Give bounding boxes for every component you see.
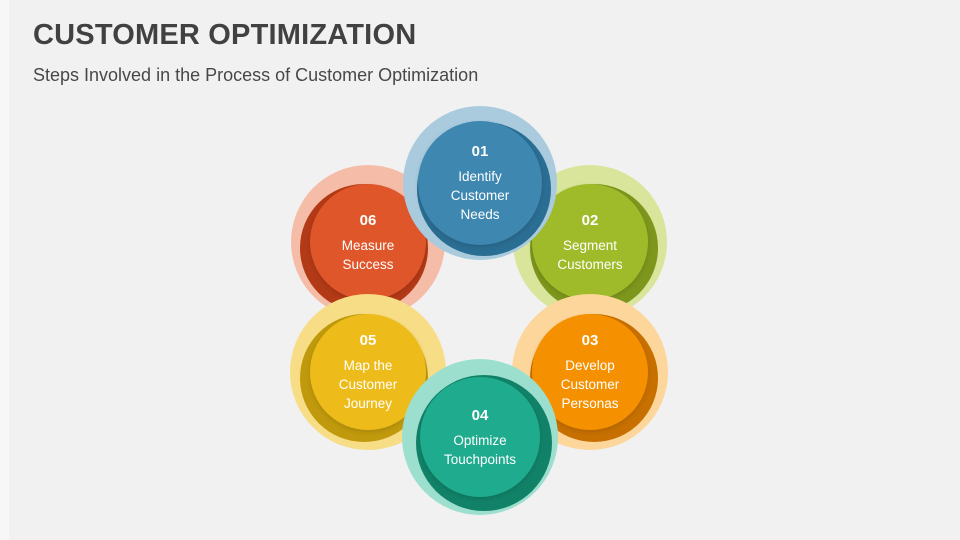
node-label-05: Map the Customer Journey	[333, 356, 404, 413]
node-number-04: 04	[472, 406, 489, 426]
node-label-06: Measure Success	[336, 236, 401, 274]
node-number-01: 01	[472, 142, 489, 162]
node-number-06: 06	[360, 211, 377, 231]
node-disc-04[interactable]: 04Optimize Touchpoints	[420, 377, 540, 497]
node-label-04: Optimize Touchpoints	[438, 431, 522, 469]
node-number-03: 03	[582, 331, 599, 351]
node-label-02: Segment Customers	[551, 236, 628, 274]
slide-canvas: CUSTOMER OPTIMIZATION Steps Involved in …	[0, 0, 960, 540]
node-number-05: 05	[360, 331, 377, 351]
node-label-01: Identify Customer Needs	[445, 167, 516, 224]
node-label-03: Develop Customer Personas	[555, 356, 626, 413]
cycle-diagram: 02Segment Customers06Measure Success01Id…	[0, 0, 960, 540]
node-disc-01[interactable]: 01Identify Customer Needs	[418, 121, 542, 245]
node-number-02: 02	[582, 211, 599, 231]
